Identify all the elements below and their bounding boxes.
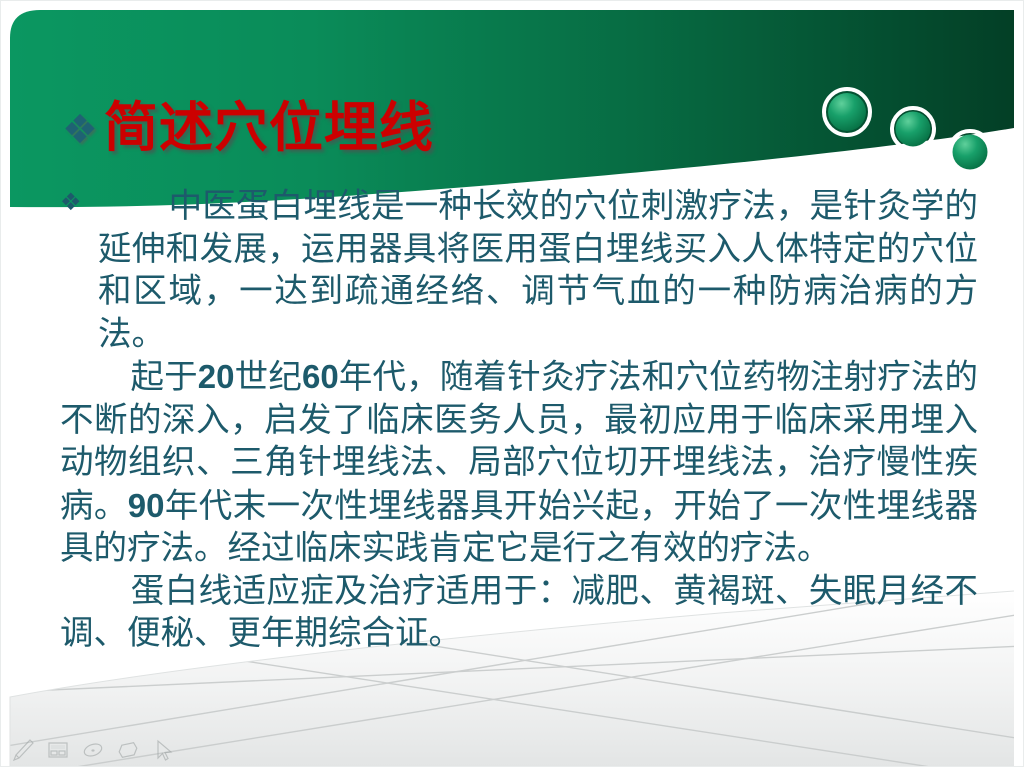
body-paragraph-3: 蛋白线适应症及治疗适用于：减肥、黄褐斑、失眠月经不调、便秘、更年期综合证。: [60, 571, 978, 656]
numeric-run: 60: [302, 358, 339, 395]
text-run: 年代末一次性埋线器具开始兴起，开始了一次性埋线器具的疗法。经过临床实践肯定它是行…: [60, 488, 978, 568]
highlighter-icon[interactable]: [115, 737, 141, 763]
slide-body: ❖ 中医蛋白埋线是一种长效的穴位刺激疗法，是针灸学的延伸和发展，运用器具将医用蛋…: [60, 186, 978, 656]
text-run: 世纪: [235, 359, 302, 396]
paragraph-1-runs: 中医蛋白埋线是一种长效的穴位刺激疗法，是针灸学的延伸和发展，运用器具将医用蛋白埋…: [98, 188, 978, 353]
body-paragraph-1: ❖ 中医蛋白埋线是一种长效的穴位刺激疗法，是针灸学的延伸和发展，运用器具将医用蛋…: [60, 186, 978, 356]
cursor-arrow-icon[interactable]: [150, 737, 176, 763]
text-run: 蛋白线适应症及治疗适用于：减肥、黄褐斑、失眠月经不调、便秘、更年期综合证。: [60, 573, 978, 653]
page-title: 简述穴位埋线: [104, 100, 434, 157]
numeric-run: 20: [198, 358, 235, 395]
paragraph-2-runs: 起于20世纪60年代，随着针灸疗法和穴位药物注射疗法的不断的深入，启发了临床医务…: [60, 359, 978, 567]
diamond-cluster-icon: ❖: [62, 110, 98, 150]
diamond-cluster-icon: ❖: [60, 190, 82, 214]
slideshow-screen-icon[interactable]: [45, 737, 71, 763]
pen-icon[interactable]: [10, 737, 36, 763]
paragraph-3-runs: 蛋白线适应症及治疗适用于：减肥、黄褐斑、失眠月经不调、便秘、更年期综合证。: [60, 573, 978, 653]
slide-title: ❖ 简述穴位埋线: [62, 100, 434, 157]
presenter-toolbar[interactable]: [10, 737, 176, 763]
text-run: 起于: [130, 359, 197, 396]
body-paragraph-2: 起于20世纪60年代，随着针灸疗法和穴位药物注射疗法的不断的深入，启发了临床医务…: [60, 356, 978, 571]
eraser-icon[interactable]: [80, 737, 106, 763]
text-run: 中医蛋白埋线是一种长效的穴位刺激疗法，是针灸学的延伸和发展，运用器具将医用蛋白埋…: [98, 188, 978, 353]
presentation-slide: ❖ 简述穴位埋线 ❖ 中医蛋白埋线是一种长效的穴位刺激疗法，是针灸学的延伸和发展…: [0, 0, 1024, 767]
numeric-run: 90: [128, 487, 165, 524]
